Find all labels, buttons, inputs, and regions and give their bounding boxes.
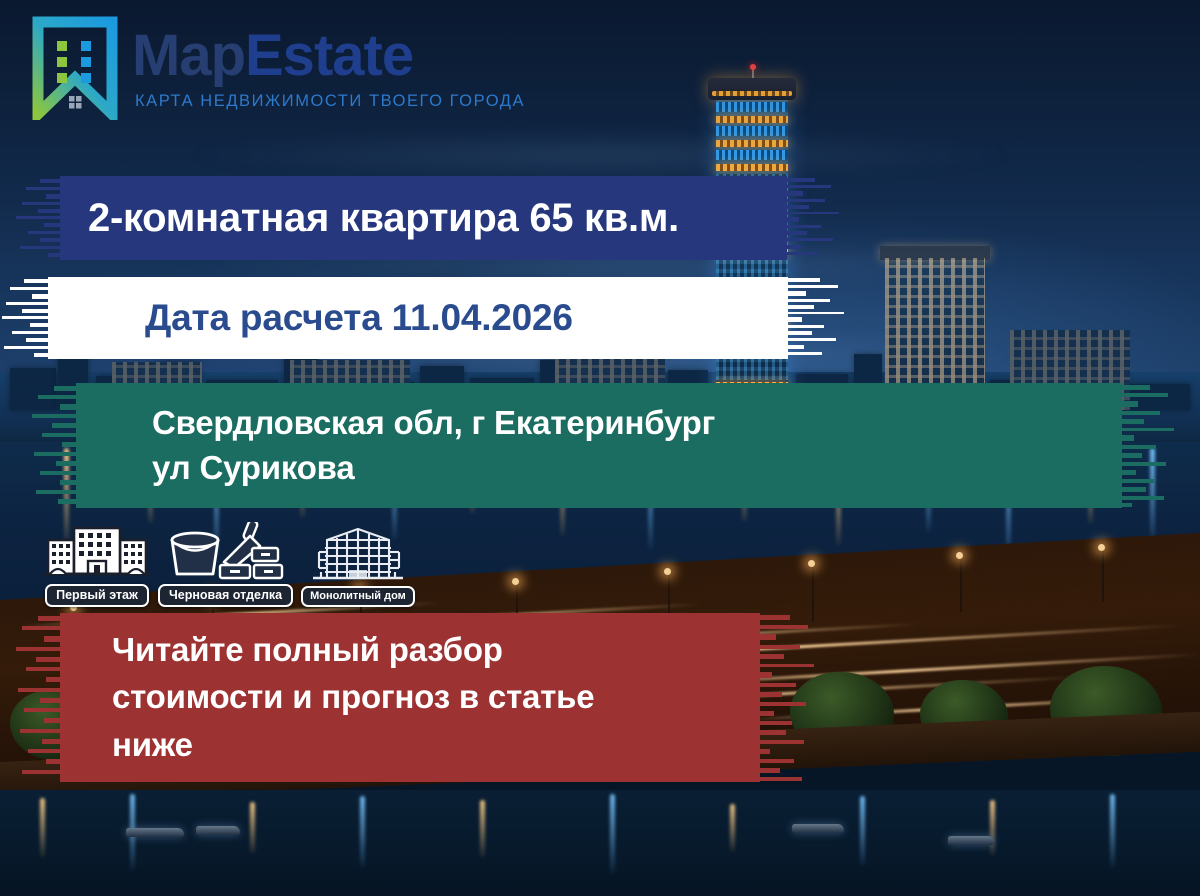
street-lamp: [512, 578, 519, 585]
calculation-date-banner: Дата расчета 11.04.2026: [48, 277, 788, 359]
property-title: 2-комнатная квартира 65 кв.м.: [88, 196, 787, 241]
badge-label: Монолитный дом: [301, 586, 415, 607]
street-lamp: [808, 560, 815, 567]
badge-label: Первый этаж: [45, 584, 149, 607]
street-lamp: [1098, 544, 1105, 551]
boat: [792, 824, 844, 833]
monolithic-building-frame-icon: [311, 526, 405, 589]
poster-root: MapEstate КАРТА НЕДВИЖИМОСТИ ТВОЕГО ГОРО…: [0, 0, 1200, 896]
boat: [948, 836, 994, 845]
brand-name: MapEstate: [132, 27, 525, 85]
address-line-street: ул Сурикова: [152, 450, 1122, 486]
cta-banner[interactable]: Читайте полный разбор стоимости и прогно…: [60, 613, 760, 782]
badge-first-floor[interactable]: Первый этаж: [44, 524, 150, 607]
brand-logo[interactable]: MapEstate КАРТА НЕДВИЖИМОСТИ ТВОЕГО ГОРО…: [32, 16, 525, 120]
bookmark-building-logo-icon: [32, 16, 118, 120]
feature-badges: Первый этаж: [44, 522, 415, 607]
lower-river: [0, 790, 1200, 896]
address-line-region-city: Свердловская обл, г Екатеринбург: [152, 405, 1122, 441]
address-banner: Свердловская обл, г Екатеринбург ул Сури…: [76, 383, 1122, 508]
badge-monolithic-house[interactable]: Монолитный дом: [301, 526, 415, 607]
brand-name-map: Map: [132, 23, 245, 88]
badge-label: Черновая отделка: [158, 584, 293, 607]
badge-rough-finish[interactable]: Черновая отделка: [158, 522, 293, 607]
apartment-building-icon: [44, 524, 150, 587]
calculation-date: Дата расчета 11.04.2026: [145, 297, 788, 339]
brand-name-estate: Estate: [245, 23, 413, 88]
street-lamp: [664, 568, 671, 575]
property-title-banner: 2-комнатная квартира 65 кв.м.: [60, 176, 787, 260]
cta-line-3: ниже: [112, 724, 760, 766]
boat: [126, 828, 184, 837]
street-lamp: [956, 552, 963, 559]
cta-line-2: стоимости и прогноз в статье: [112, 676, 760, 718]
cta-line-1: Читайте полный разбор: [112, 629, 760, 671]
boat: [196, 826, 240, 835]
brand-tagline: КАРТА НЕДВИЖИМОСТИ ТВОЕГО ГОРОДА: [135, 93, 525, 110]
paint-bucket-trowel-bricks-icon: [166, 522, 286, 587]
